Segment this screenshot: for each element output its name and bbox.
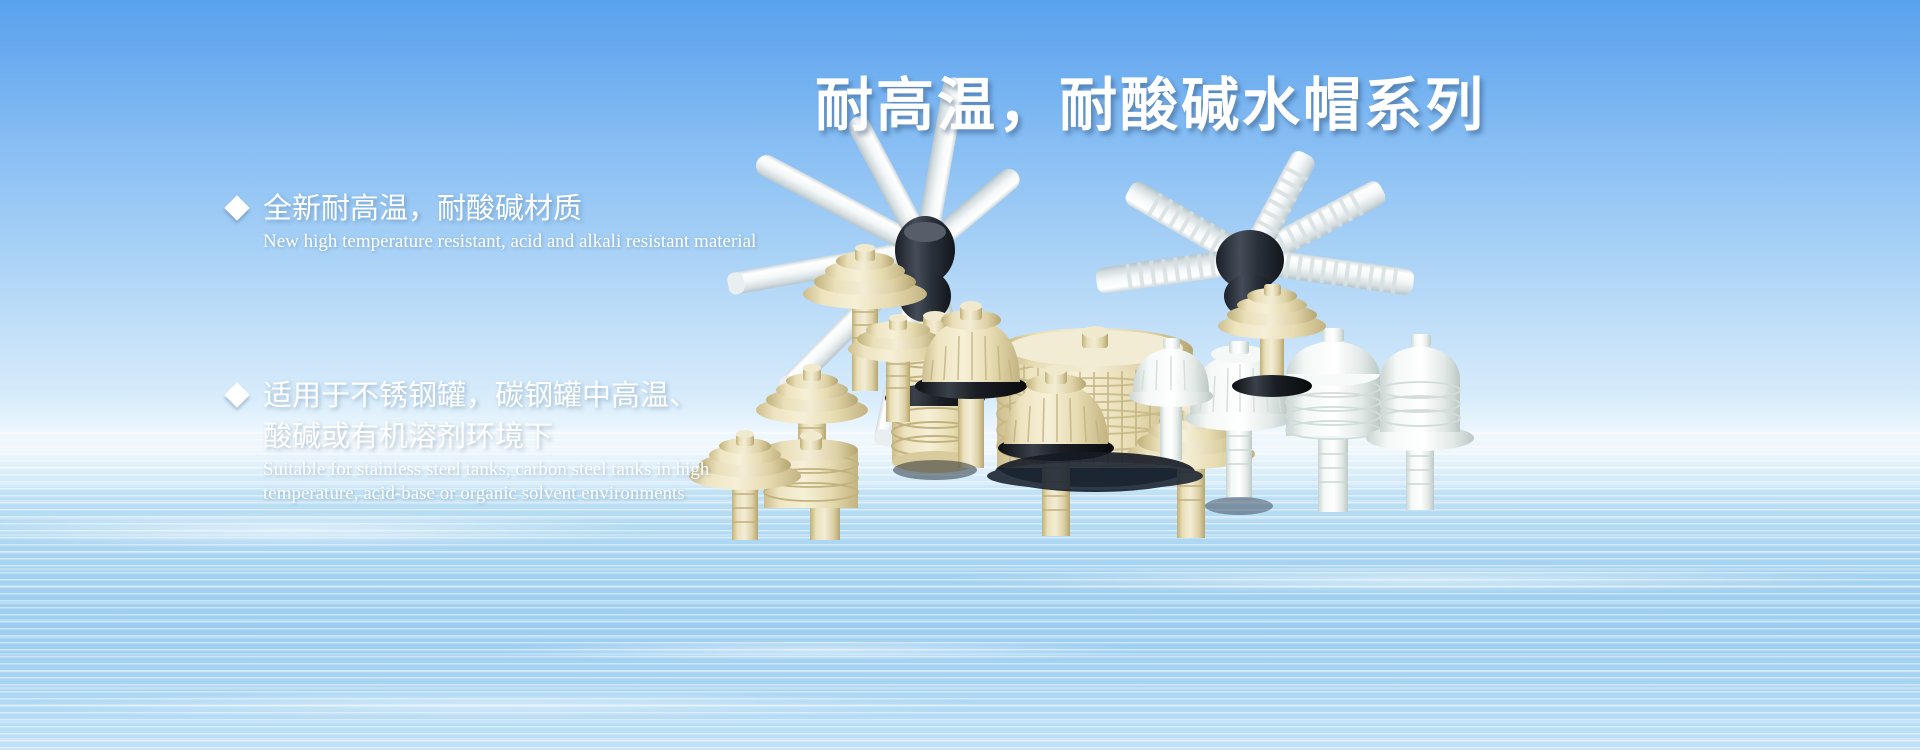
feature-block-1: 全新耐高温，耐酸碱材质 New high temperature resista… — [228, 188, 756, 254]
diamond-bullet-icon — [224, 382, 249, 407]
product-cluster-image — [690, 120, 1920, 540]
feature-1-heading: 全新耐高温，耐酸碱材质 — [263, 188, 582, 229]
product-white-nozzle-b — [1286, 328, 1380, 512]
feature-1-subtitle: New high temperature resistant, acid and… — [263, 230, 756, 254]
page-title: 耐高温，耐酸碱水帽系列 — [815, 58, 1486, 142]
feature-2-heading: 适用于不锈钢罐，碳钢罐中高温、 酸碱或有机溶剂环境下 — [263, 375, 698, 457]
product-white-nozzle-d — [1366, 334, 1474, 510]
feature-2-subtitle: Suitable for stainless steel tanks, carb… — [263, 458, 709, 506]
feature-block-2: 适用于不锈钢罐，碳钢罐中高温、 酸碱或有机溶剂环境下 Suitable for … — [228, 375, 709, 506]
promo-banner: 耐高温，耐酸碱水帽系列 全新耐高温，耐酸碱材质 New high tempera… — [0, 0, 1920, 750]
diamond-bullet-icon — [224, 195, 249, 220]
